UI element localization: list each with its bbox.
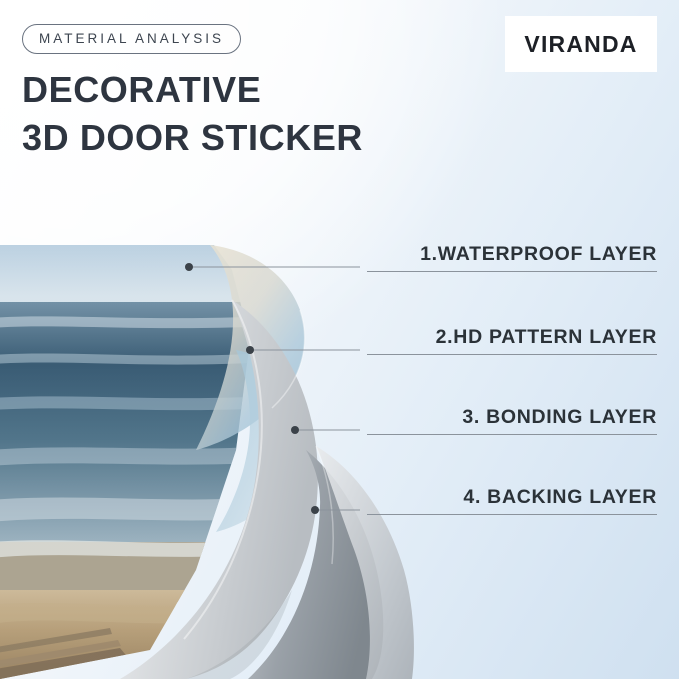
page-title-line-1: DECORATIVE (22, 69, 261, 110)
page-title-line-2: 3D DOOR STICKER (22, 114, 363, 162)
callout-dot-4 (311, 506, 319, 514)
callout-rule-4 (367, 514, 657, 515)
material-analysis-badge: MATERIAL ANALYSIS (22, 24, 241, 54)
callout-dot-2 (246, 346, 254, 354)
callout-label-1: 1.WATERPROOF LAYER (420, 243, 657, 266)
callout-dot-3 (291, 426, 299, 434)
brand-name: VIRANDA (524, 31, 637, 58)
callout-rule-1 (367, 271, 657, 272)
callout-rule-2 (367, 354, 657, 355)
callout-bonding-layer: 3. BONDING LAYER (367, 399, 657, 435)
callout-dot-1 (185, 263, 193, 271)
callout-hd-pattern-layer: 2.HD PATTERN LAYER (367, 319, 657, 355)
callout-label-2: 2.HD PATTERN LAYER (436, 326, 657, 349)
brand-logo-box: VIRANDA (505, 16, 657, 72)
page-title: DECORATIVE 3D DOOR STICKER (22, 66, 363, 161)
callout-waterproof-layer: 1.WATERPROOF LAYER (367, 236, 657, 272)
callout-backing-layer: 4. BACKING LAYER (367, 479, 657, 515)
poster-canvas: MATERIAL ANALYSIS DECORATIVE 3D DOOR STI… (0, 0, 679, 679)
callout-label-3: 3. BONDING LAYER (462, 406, 657, 429)
callout-label-4: 4. BACKING LAYER (463, 486, 657, 509)
callout-rule-3 (367, 434, 657, 435)
